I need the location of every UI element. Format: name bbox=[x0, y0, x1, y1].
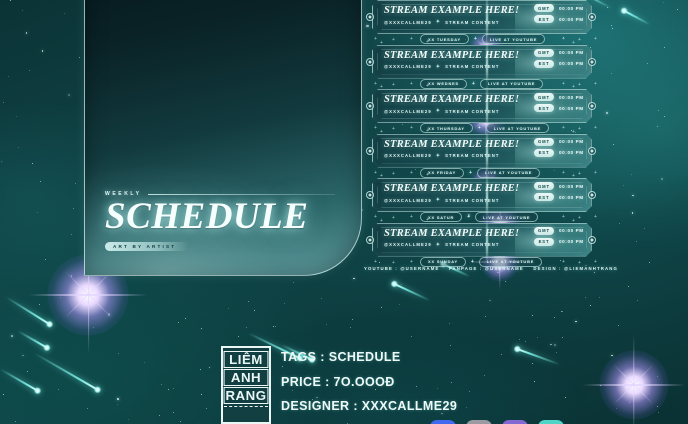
gmt-badge: GMT bbox=[534, 182, 554, 190]
star bbox=[293, 282, 294, 283]
star bbox=[519, 339, 520, 340]
star bbox=[623, 185, 624, 186]
star bbox=[68, 94, 70, 96]
row-subtitle: @XXXCALLME29✦STREAM CONTENT bbox=[384, 197, 500, 203]
sparkle-plus-icon: + bbox=[380, 40, 383, 46]
row-subtitle: @XXXCALLME29✦STREAM CONTENT bbox=[384, 153, 500, 159]
ticket-left-dot-icon bbox=[366, 58, 374, 66]
star bbox=[15, 421, 16, 422]
sparkle-plus-icon: + bbox=[426, 83, 429, 89]
star bbox=[677, 9, 678, 10]
row-subtitle: @XXXCALLME29✦STREAM CONTENT bbox=[384, 19, 500, 25]
schedule-row[interactable]: STREAM EXAMPLE HERE!@XXXCALLME29✦STREAM … bbox=[366, 130, 616, 175]
star bbox=[3, 394, 4, 395]
sparkle-plus-icon: + bbox=[380, 218, 383, 224]
star bbox=[532, 315, 533, 316]
star bbox=[254, 310, 255, 311]
sparkle-plus-icon: + bbox=[380, 173, 383, 179]
ticket-left-dot-icon bbox=[366, 147, 374, 155]
star bbox=[401, 284, 402, 285]
row-content: STREAM CONTENT bbox=[445, 64, 499, 69]
star bbox=[485, 316, 486, 317]
star bbox=[42, 50, 44, 52]
logo-dashed-rule bbox=[224, 406, 268, 407]
star bbox=[87, 408, 88, 409]
row-username: @XXXCALLME29 bbox=[384, 153, 432, 158]
logo-line-3: RANG bbox=[224, 387, 269, 404]
sparkle-plus-icon: + bbox=[572, 0, 575, 1]
star bbox=[273, 326, 274, 327]
row-times: GMT00:00 PMEST00:00 PM bbox=[534, 93, 618, 115]
light-beam bbox=[486, 172, 488, 218]
schedule-row[interactable]: STREAM EXAMPLE HERE!@XXXCALLME29✦STREAM … bbox=[366, 0, 616, 41]
star bbox=[631, 174, 632, 175]
star bbox=[246, 327, 247, 328]
gmt-time-row: GMT00:00 PM bbox=[534, 227, 618, 235]
star bbox=[209, 367, 211, 369]
star bbox=[18, 147, 19, 148]
star bbox=[649, 262, 650, 263]
gmt-time-value: 00:00 PM bbox=[559, 95, 584, 100]
credits-bar: YOUTUBE : @USERNAME FANPAGE : @USERNAME … bbox=[364, 266, 618, 271]
row-subtitle: @XXXCALLME29✦STREAM CONTENT bbox=[384, 64, 500, 70]
star bbox=[200, 369, 201, 370]
ticket-left-dot-icon bbox=[366, 191, 374, 199]
gmt-badge: GMT bbox=[534, 93, 554, 101]
star bbox=[159, 415, 160, 416]
info-tags: TAGS : SCHEDULE bbox=[281, 345, 681, 370]
star bbox=[618, 325, 619, 326]
light-beam bbox=[486, 83, 488, 129]
light-beam bbox=[486, 39, 488, 85]
star bbox=[93, 327, 94, 328]
star bbox=[637, 300, 638, 301]
star bbox=[505, 281, 506, 282]
row-title: STREAM EXAMPLE HERE! bbox=[384, 228, 519, 239]
star bbox=[108, 313, 110, 315]
est-badge: EST bbox=[534, 238, 554, 246]
ticket-left-dot-icon bbox=[366, 102, 374, 110]
gmt-time-row: GMT00:00 PM bbox=[534, 182, 618, 190]
light-beam bbox=[486, 0, 488, 40]
sparkle-plus-icon: + bbox=[578, 260, 581, 266]
star bbox=[26, 32, 28, 34]
schedule-rows-list: STREAM EXAMPLE HERE!@XXXCALLME29✦STREAM … bbox=[366, 0, 616, 263]
gmt-badge: GMT bbox=[534, 49, 554, 57]
info-designer: DESIGNER : XXXCALLME29 bbox=[281, 394, 681, 419]
row-username: @XXXCALLME29 bbox=[384, 109, 432, 114]
schedule-row[interactable]: STREAM EXAMPLE HERE!@XXXCALLME29✦STREAM … bbox=[366, 174, 616, 219]
star bbox=[590, 305, 591, 306]
star bbox=[11, 335, 13, 337]
color-swatch[interactable] bbox=[538, 420, 564, 424]
row-title: STREAM EXAMPLE HERE! bbox=[384, 50, 519, 61]
star bbox=[399, 304, 400, 305]
liem-anh-rang-logo: LIÊM ANH RANG bbox=[221, 346, 271, 424]
star bbox=[381, 307, 382, 308]
sparkle-plus-icon: + bbox=[392, 260, 395, 266]
est-badge: EST bbox=[534, 60, 554, 68]
star bbox=[352, 319, 353, 320]
star bbox=[248, 301, 249, 302]
row-content: STREAM CONTENT bbox=[445, 20, 499, 25]
star bbox=[350, 327, 351, 328]
row-title: STREAM EXAMPLE HERE! bbox=[384, 5, 519, 16]
est-time-value: 00:00 PM bbox=[559, 150, 584, 155]
star bbox=[117, 404, 118, 405]
star bbox=[661, 178, 663, 180]
star bbox=[628, 286, 629, 287]
card-title-block: WEEKLY SCHEDULE ART BY ARTIST bbox=[105, 191, 335, 253]
est-time-row: EST00:00 PM bbox=[534, 238, 618, 246]
row-title: STREAM EXAMPLE HERE! bbox=[384, 183, 519, 194]
logo-line-1: LIÊM bbox=[224, 351, 269, 368]
schedule-row[interactable]: STREAM EXAMPLE HERE!@XXXCALLME29✦STREAM … bbox=[366, 219, 616, 264]
sparkle-plus-icon: + bbox=[562, 259, 565, 265]
sparkle-plus-icon: + bbox=[572, 218, 575, 224]
credit-fanpage: FANPAGE : @USERNAME bbox=[449, 266, 524, 271]
sparkle-plus-icon: + bbox=[426, 39, 429, 45]
est-badge: EST bbox=[534, 193, 554, 201]
star bbox=[27, 371, 28, 372]
bullet-icon: ✦ bbox=[436, 108, 441, 114]
star bbox=[525, 341, 526, 342]
star bbox=[619, 223, 620, 224]
est-time-value: 00:00 PM bbox=[559, 195, 584, 200]
gmt-time-value: 00:00 PM bbox=[559, 6, 584, 11]
star bbox=[599, 297, 600, 298]
platform-pill[interactable]: LIVE AT YOUTUBE bbox=[479, 257, 542, 267]
star bbox=[40, 181, 41, 182]
row-times: GMT00:00 PMEST00:00 PM bbox=[534, 49, 618, 71]
star bbox=[64, 13, 65, 14]
est-time-row: EST00:00 PM bbox=[534, 60, 618, 68]
credit-design: DESIGN : @LIEMANHTRANG bbox=[533, 266, 618, 271]
star bbox=[658, 110, 659, 111]
gmt-time-value: 00:00 PM bbox=[559, 50, 584, 55]
bullet-icon: ✦ bbox=[436, 19, 441, 25]
est-badge: EST bbox=[534, 149, 554, 157]
star bbox=[39, 304, 40, 305]
sparkle-plus-icon: + bbox=[426, 172, 429, 178]
star bbox=[168, 389, 169, 390]
credit-youtube: YOUTUBE : @USERNAME bbox=[364, 266, 439, 271]
bullet-icon: ✦ bbox=[436, 242, 441, 248]
sparkle-plus-icon: + bbox=[572, 129, 575, 135]
sparkle-plus-icon: + bbox=[572, 173, 575, 179]
gmt-time-row: GMT00:00 PM bbox=[534, 4, 618, 12]
bullet-icon: ✦ bbox=[436, 153, 441, 159]
est-time-row: EST00:00 PM bbox=[534, 15, 618, 23]
kicker-rule bbox=[148, 194, 335, 195]
star bbox=[128, 419, 129, 420]
day-pill[interactable]: XX SUNDAY bbox=[420, 257, 466, 267]
star bbox=[3, 102, 4, 103]
star bbox=[284, 303, 285, 304]
row-content: STREAM CONTENT bbox=[445, 242, 499, 247]
row-times: GMT00:00 PMEST00:00 PM bbox=[534, 227, 618, 249]
star bbox=[173, 388, 174, 389]
sparkle-plus-icon: + bbox=[426, 128, 429, 134]
color-swatch-list bbox=[430, 420, 564, 424]
star bbox=[647, 63, 648, 64]
star bbox=[118, 353, 119, 354]
bullet-icon: ✦ bbox=[436, 64, 441, 70]
star bbox=[585, 297, 586, 298]
sparkle-plus-icon: + bbox=[374, 259, 377, 265]
sparkle-plus-icon: + bbox=[380, 0, 383, 1]
star bbox=[178, 322, 179, 323]
sparkle-plus-icon: + bbox=[572, 40, 575, 46]
row-content: STREAM CONTENT bbox=[445, 109, 499, 114]
star bbox=[161, 384, 162, 385]
star bbox=[180, 421, 181, 422]
row-title: STREAM EXAMPLE HERE! bbox=[384, 94, 519, 105]
star bbox=[29, 70, 30, 71]
ticket-left-dot-icon bbox=[366, 236, 374, 244]
star bbox=[10, 0, 11, 1]
star bbox=[321, 298, 322, 299]
star bbox=[562, 337, 563, 338]
star bbox=[663, 2, 664, 3]
color-swatch[interactable] bbox=[466, 420, 492, 424]
est-time-row: EST00:00 PM bbox=[534, 104, 618, 112]
row-times: GMT00:00 PMEST00:00 PM bbox=[534, 4, 618, 26]
ticket-left-dot-icon bbox=[366, 13, 374, 21]
sparkle-plus-icon: + bbox=[380, 84, 383, 90]
star bbox=[326, 324, 327, 325]
star bbox=[37, 212, 38, 213]
star bbox=[32, 163, 33, 164]
star bbox=[664, 116, 665, 117]
est-badge: EST bbox=[534, 104, 554, 112]
page-title: SCHEDULE bbox=[105, 199, 335, 235]
sparkle-plus-icon: + bbox=[380, 129, 383, 135]
row-username: @XXXCALLME29 bbox=[384, 20, 432, 25]
star bbox=[75, 183, 76, 184]
star bbox=[16, 116, 17, 117]
est-time-value: 00:00 PM bbox=[559, 61, 584, 66]
gmt-time-row: GMT00:00 PM bbox=[534, 138, 618, 146]
sparkle-plus-icon: + bbox=[410, 259, 413, 265]
est-time-value: 00:00 PM bbox=[559, 106, 584, 111]
star bbox=[537, 337, 538, 338]
gmt-time-value: 00:00 PM bbox=[559, 139, 584, 144]
star bbox=[71, 234, 72, 235]
star bbox=[644, 228, 645, 229]
row-times: GMT00:00 PMEST00:00 PM bbox=[534, 182, 618, 204]
est-badge: EST bbox=[534, 15, 554, 23]
logo-line-2: ANH bbox=[224, 369, 269, 386]
star bbox=[238, 336, 239, 337]
star bbox=[228, 308, 229, 309]
gmt-time-row: GMT00:00 PM bbox=[534, 93, 618, 101]
row-username: @XXXCALLME29 bbox=[384, 64, 432, 69]
star bbox=[206, 408, 207, 409]
star bbox=[636, 241, 637, 242]
star bbox=[353, 278, 355, 280]
star bbox=[275, 326, 276, 327]
row-times: GMT00:00 PMEST00:00 PM bbox=[534, 138, 618, 160]
star bbox=[22, 355, 24, 357]
row-content: STREAM CONTENT bbox=[445, 153, 499, 158]
gmt-badge: GMT bbox=[534, 138, 554, 146]
star bbox=[8, 76, 9, 77]
sparkle-plus-icon: + bbox=[594, 259, 597, 265]
star bbox=[22, 10, 23, 11]
schedule-row[interactable]: STREAM EXAMPLE HERE!@XXXCALLME29✦STREAM … bbox=[366, 41, 616, 86]
star bbox=[657, 126, 659, 128]
star bbox=[201, 328, 202, 329]
info-price: PRICE : 7O.OOOÐ bbox=[281, 370, 681, 395]
row-subtitle: @XXXCALLME29✦STREAM CONTENT bbox=[384, 242, 500, 248]
color-swatch[interactable] bbox=[502, 420, 528, 424]
star bbox=[575, 321, 577, 323]
star bbox=[71, 275, 73, 277]
star bbox=[632, 195, 634, 197]
star bbox=[79, 57, 80, 58]
schedule-art-card: WEEKLY SCHEDULE ART BY ARTIST bbox=[84, 0, 362, 276]
star bbox=[489, 300, 491, 302]
star bbox=[664, 47, 665, 48]
star bbox=[411, 336, 412, 337]
poster-canvas: WEEKLY SCHEDULE ART BY ARTIST STREAM EXA… bbox=[0, 0, 688, 424]
schedule-row[interactable]: STREAM EXAMPLE HERE!@XXXCALLME29✦STREAM … bbox=[366, 85, 616, 130]
star bbox=[554, 317, 555, 318]
sparkle-plus-icon: + bbox=[572, 84, 575, 90]
row-username: @XXXCALLME29 bbox=[384, 198, 432, 203]
star bbox=[60, 297, 61, 298]
star bbox=[632, 212, 634, 214]
star bbox=[1, 161, 3, 163]
product-info-block: TAGS : SCHEDULE PRICE : 7O.OOOÐ DESIGNER… bbox=[281, 345, 681, 424]
gmt-time-value: 00:00 PM bbox=[559, 184, 584, 189]
star bbox=[594, 272, 596, 274]
color-swatch[interactable] bbox=[430, 420, 456, 424]
sparkle-plus-icon: + bbox=[426, 217, 429, 223]
est-time-row: EST00:00 PM bbox=[534, 193, 618, 201]
star bbox=[58, 389, 59, 390]
est-time-row: EST00:00 PM bbox=[534, 149, 618, 157]
row-username: @XXXCALLME29 bbox=[384, 242, 432, 247]
row-content: STREAM CONTENT bbox=[445, 198, 499, 203]
est-time-value: 00:00 PM bbox=[559, 239, 584, 244]
light-beam bbox=[486, 217, 488, 263]
available-colors-label: AVAILABLE COLORS : bbox=[281, 419, 422, 424]
plus-icon: + bbox=[471, 259, 474, 265]
star bbox=[173, 412, 174, 413]
star bbox=[449, 323, 450, 324]
gmt-time-row: GMT00:00 PM bbox=[534, 49, 618, 57]
gmt-time-value: 00:00 PM bbox=[559, 228, 584, 233]
row-subtitle: @XXXCALLME29✦STREAM CONTENT bbox=[384, 108, 500, 114]
gmt-badge: GMT bbox=[534, 4, 554, 12]
star bbox=[144, 362, 145, 363]
row-pills: XX SUNDAY+LIVE AT YOUTUBE bbox=[420, 257, 542, 267]
row-title: STREAM EXAMPLE HERE! bbox=[384, 139, 519, 150]
light-beam bbox=[486, 128, 488, 174]
star bbox=[45, 259, 46, 260]
gmt-badge: GMT bbox=[534, 227, 554, 235]
star bbox=[117, 398, 119, 400]
bullet-icon: ✦ bbox=[436, 197, 441, 203]
art-by-artist-badge: ART BY ARTIST bbox=[105, 242, 188, 251]
info-colors-row: AVAILABLE COLORS : bbox=[281, 419, 681, 424]
star bbox=[201, 394, 202, 395]
star bbox=[73, 208, 74, 209]
star bbox=[497, 272, 499, 274]
est-time-value: 00:00 PM bbox=[559, 17, 584, 22]
star bbox=[185, 318, 186, 319]
